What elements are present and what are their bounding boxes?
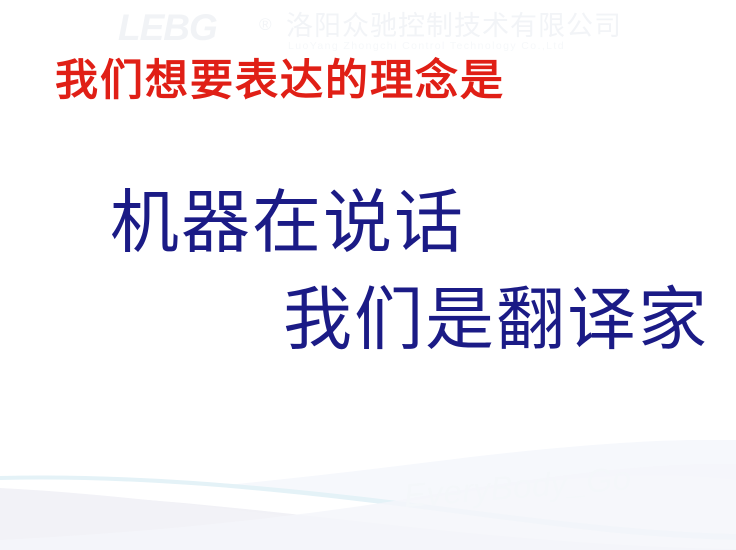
lebg-logo-wordmark: LEBG [118,9,217,46]
company-name-chinese: 洛阳众驰控制技术有限公司 [286,12,622,40]
footer-wave-decoration [0,440,736,550]
slide-headline: 我们想要表达的理念是 [55,58,505,106]
wave-shadow-right [0,464,736,550]
company-name-english: LuoYang Zhongchi Control Technology Co.,… [288,41,565,52]
presentation-slide: LEBG ® 洛阳众驰控制技术有限公司 LuoYang Zhongchi Con… [0,0,736,550]
statement-line-2: 我们是翻译家 [283,283,709,358]
wave-band-white [0,480,736,550]
registered-trademark-icon: ® [259,16,272,33]
wave-band-cyan [0,475,736,540]
watermark-header: LEBG ® 洛阳众驰控制技术有限公司 LuoYang Zhongchi Con… [0,0,736,58]
wave-svg [0,440,736,550]
footer-tagline: EveryBody_Go [403,461,633,512]
wave-band-gray [0,492,736,550]
wave-band-pale-blue [0,440,736,544]
statement-line-1: 机器在说话 [110,186,465,261]
wave-wedge-left [0,488,640,550]
